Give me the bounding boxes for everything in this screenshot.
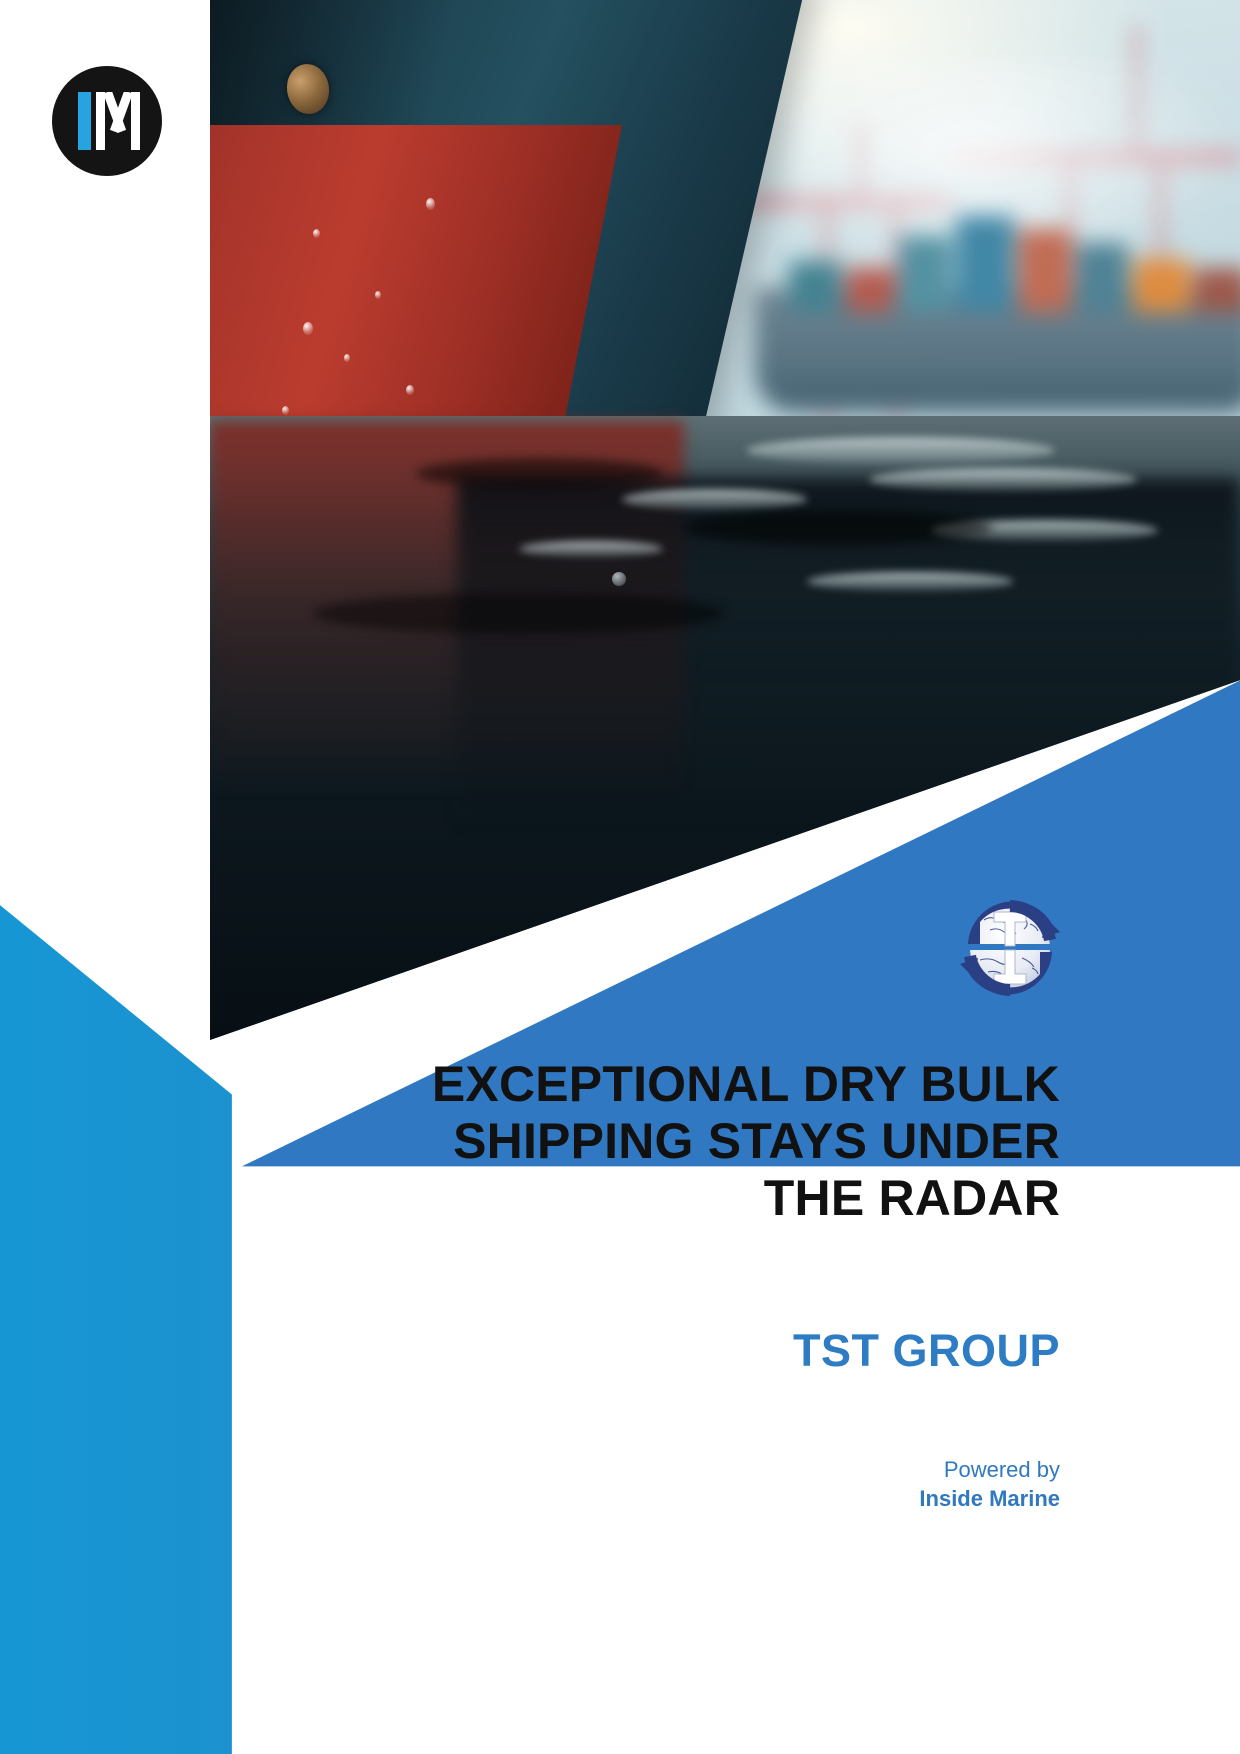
tst-group-logo[interactable] xyxy=(950,888,1070,1008)
inside-marine-logo[interactable] xyxy=(52,66,162,176)
powered-by-label: Powered by xyxy=(300,1455,1060,1484)
cover-page: EXCEPTIONAL DRY BULK SHIPPING STAYS UNDE… xyxy=(0,0,1240,1754)
container-stack xyxy=(779,202,1240,317)
title-line-1: EXCEPTIONAL DRY BULK xyxy=(300,1056,1060,1113)
logo-i-bar xyxy=(78,92,91,150)
publication-name: Inside Marine xyxy=(300,1484,1060,1513)
cover-title: EXCEPTIONAL DRY BULK SHIPPING STAYS UNDE… xyxy=(300,1056,1060,1227)
company-name: TST GROUP xyxy=(300,1325,1060,1377)
logo-m-vertex xyxy=(96,92,140,150)
title-line-2: SHIPPING STAYS UNDER xyxy=(300,1113,1060,1170)
title-line-3: THE RADAR xyxy=(300,1170,1060,1227)
footer-credit: Powered by Inside Marine xyxy=(300,1455,1060,1514)
